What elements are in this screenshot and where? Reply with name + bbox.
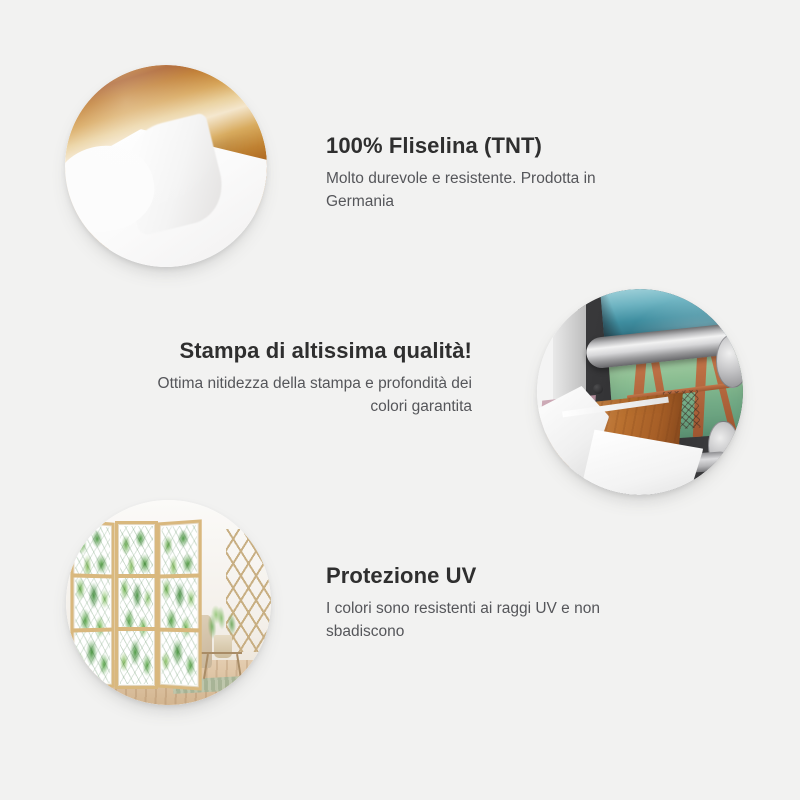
feature-block-fliselina: 100% Fliselina (TNT) Molto durevole e re… — [326, 133, 666, 213]
tropical-leaf-pattern — [75, 524, 110, 685]
feature-title-uv: Protezione UV — [326, 563, 666, 589]
machine-knob-small — [593, 384, 603, 394]
screen-rail — [74, 627, 112, 632]
wallpaper-roll-inner — [65, 65, 267, 267]
printing-machine-image — [537, 289, 743, 495]
wallpaper-roll-image — [65, 65, 267, 267]
printing-machine-inner — [537, 289, 743, 495]
roll-gloss-highlight — [65, 65, 267, 267]
feature-description-fliselina: Molto durevole e resistente. Prodotta in… — [326, 168, 666, 213]
folding-screen — [70, 521, 214, 689]
room-divider-inner — [66, 500, 271, 705]
feature-block-uv: Protezione UV I colori sono resistenti a… — [326, 563, 666, 643]
tropical-leaf-pattern — [162, 524, 197, 684]
feature-title-stampa: Stampa di altissima qualità! — [150, 338, 472, 364]
tropical-leaf-pattern — [120, 526, 153, 684]
feature-title-fliselina: 100% Fliselina (TNT) — [326, 133, 666, 159]
feature-description-uv: I colori sono resistenti ai raggi UV e n… — [326, 598, 666, 643]
roller-end-cap — [716, 334, 743, 388]
screen-panel — [115, 521, 158, 689]
promo-panel: 100% Fliselina (TNT) Molto durevole e re… — [0, 0, 800, 800]
screen-rail — [160, 573, 199, 578]
room-divider-image — [66, 500, 271, 705]
screen-rail — [118, 574, 155, 578]
screen-panel — [71, 519, 115, 691]
screen-rail — [74, 573, 112, 578]
screen-rail — [160, 627, 199, 632]
feature-description-stampa: Ottima nitidezza della stampa e profondi… — [150, 373, 472, 418]
screen-rail — [118, 627, 155, 631]
screen-panel — [157, 519, 202, 690]
feature-block-stampa: Stampa di altissima qualità! Ottima niti… — [150, 338, 472, 418]
